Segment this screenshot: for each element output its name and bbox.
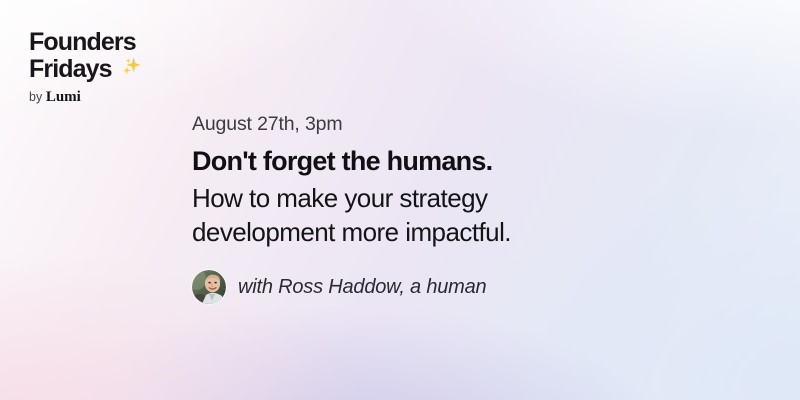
- brand-logo-line-1: Founders: [29, 29, 229, 56]
- brand-logo-line-2-row: Fridays: [29, 56, 229, 83]
- brand-byline-name: Lumi: [46, 89, 81, 105]
- brand-byline: by Lumi: [29, 89, 229, 105]
- avatar: [192, 270, 226, 304]
- event-details: August 27th, 3pm Don't forget the humans…: [192, 112, 752, 304]
- speaker-row: with Ross Haddow, a human: [192, 270, 752, 304]
- event-subheadline: How to make your strategy development mo…: [192, 181, 752, 249]
- event-subheadline-line-2: development more impactful.: [192, 215, 752, 249]
- event-headline: Don't forget the humans.: [192, 145, 752, 178]
- brand-logo-line-2: Fridays: [29, 56, 112, 83]
- sparkles-icon: [117, 54, 143, 80]
- event-subheadline-line-1: How to make your strategy: [192, 181, 752, 215]
- brand-logo: Founders Fridays by Lumi: [29, 29, 229, 105]
- speaker-name: with Ross Haddow, a human: [238, 275, 486, 299]
- event-date: August 27th, 3pm: [192, 112, 752, 136]
- brand-byline-prefix: by: [29, 90, 42, 104]
- event-banner: Founders Fridays by Lumi August 27th, 3p…: [0, 0, 800, 400]
